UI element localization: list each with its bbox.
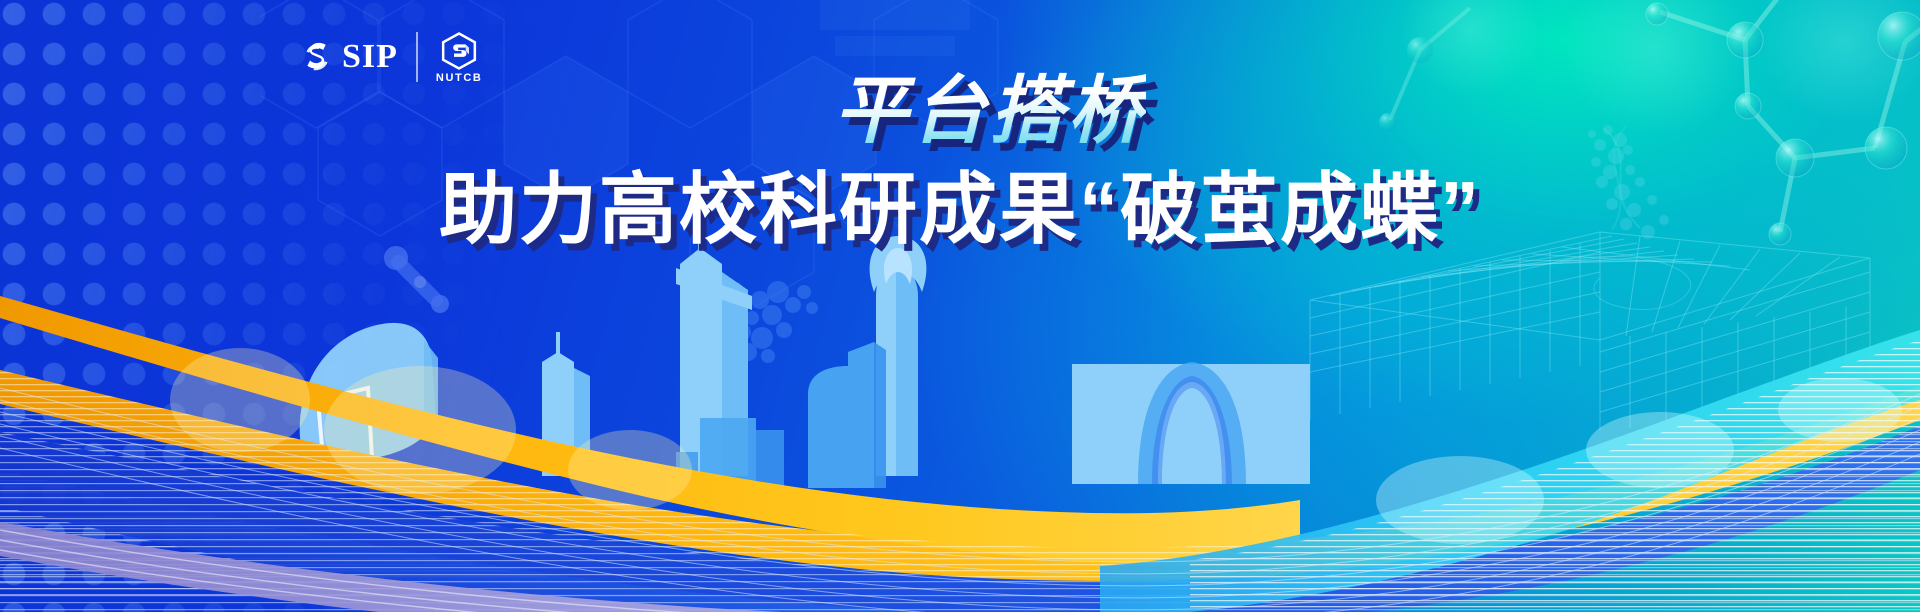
purple-ribbon bbox=[0, 522, 880, 612]
headline-line-2: 助力高校科研成果“破茧成蝶” 助力高校科研成果“破茧成蝶” bbox=[439, 170, 1481, 248]
nutcb-hexagon-s-icon bbox=[439, 31, 479, 71]
blue-ribbon bbox=[0, 420, 1920, 612]
orange-ribbon bbox=[0, 296, 1920, 596]
headline-block: 平台搭桥 平台搭桥 助力高校科研成果“破茧成蝶” 助力高校科研成果“破茧成蝶” bbox=[0, 74, 1920, 248]
headline-line-1: 平台搭桥 平台搭桥 bbox=[834, 74, 1146, 148]
sip-logo: SIP bbox=[296, 36, 398, 78]
sip-logo-text: SIP bbox=[342, 40, 398, 74]
headline-line-2-text: 助力高校科研成果“破茧成蝶” bbox=[439, 165, 1481, 253]
headline-line-1-text: 平台搭桥 bbox=[834, 69, 1146, 152]
promo-banner: SIP NUTCB 平台搭桥 平台搭桥 助力高校科研成果“破茧成蝶” 助力高校科… bbox=[0, 0, 1920, 612]
cyan-ribbon bbox=[1100, 320, 1920, 612]
sip-s-monogram-icon bbox=[296, 36, 338, 78]
